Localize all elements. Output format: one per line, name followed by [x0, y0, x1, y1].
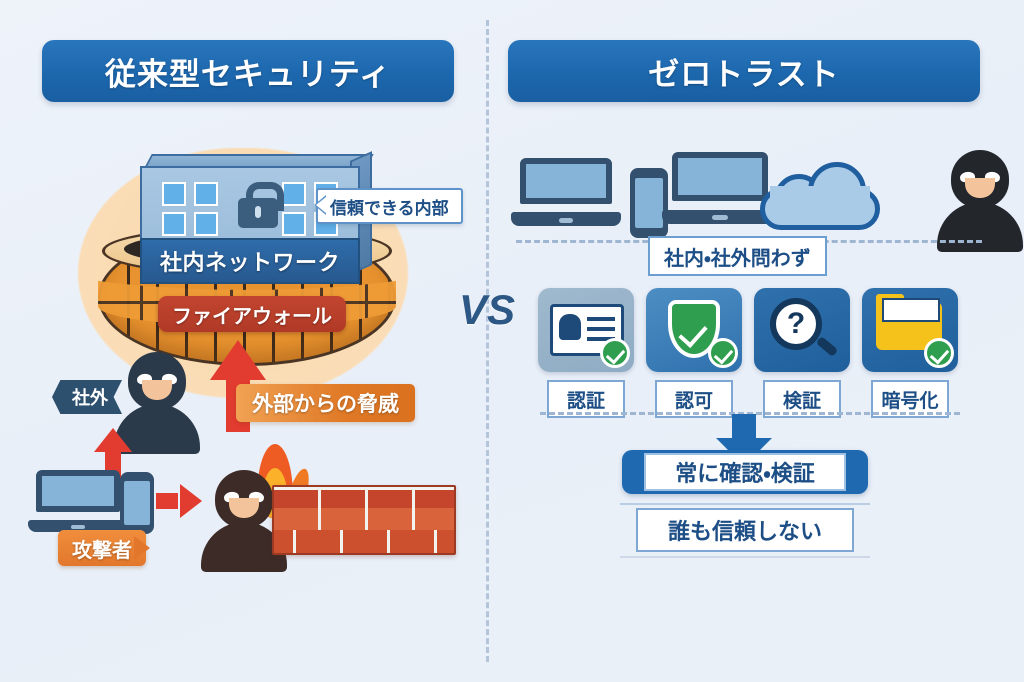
- smartphone-icon: [120, 472, 154, 534]
- never-trust-box: 誰も信頼しない: [636, 508, 854, 552]
- pillar-verification[interactable]: ? 検証: [754, 288, 850, 418]
- shield-check-icon: [646, 288, 742, 372]
- lock-keyhole: [255, 206, 261, 218]
- smartphone-screen: [635, 178, 664, 228]
- pillar-authentication[interactable]: 認証: [538, 288, 634, 418]
- check-badge-icon: [600, 338, 630, 368]
- laptop-screen: [36, 470, 120, 512]
- folder-check-icon: [862, 288, 958, 372]
- pillar-encryption[interactable]: 暗号化: [862, 288, 958, 418]
- pillar-authorization[interactable]: 認可: [646, 288, 742, 418]
- never-trust-label: 誰も信頼しない: [668, 514, 822, 546]
- arrow-head: [210, 340, 266, 380]
- magnifier-lens: ?: [770, 298, 822, 350]
- laptop-icon: [520, 158, 612, 226]
- lock-icon: [238, 182, 278, 228]
- tag-outside-network-label: 社外: [72, 384, 108, 410]
- laptop-touchpad: [71, 525, 84, 529]
- cloud-icon: [760, 162, 880, 230]
- laptop-touchpad: [559, 218, 574, 223]
- id-card-line: [587, 327, 615, 331]
- check-badge-icon: [924, 338, 954, 368]
- laptop-icon: [36, 470, 120, 532]
- building-icon: 社内ネットワーク: [140, 166, 358, 282]
- laptop-screen: [672, 152, 768, 201]
- laptop-icon: [672, 152, 768, 224]
- arrow-shaft: [732, 414, 756, 440]
- brick-wall-icon: [272, 485, 456, 555]
- brick-row: [274, 530, 454, 553]
- laptop-touchpad: [712, 215, 727, 220]
- firewall-badge: ファイアウォール: [158, 296, 346, 332]
- callout-trusted-inside: 信頼できる内部: [316, 188, 463, 224]
- header-banner-traditional: 従来型セキュリティ: [42, 40, 454, 102]
- building-window: [282, 212, 306, 236]
- folder-paper: [882, 298, 940, 322]
- id-card-icon: [538, 288, 634, 372]
- smartphone-screen: [124, 481, 150, 526]
- building-window: [282, 182, 306, 206]
- smartphone-frame: [630, 168, 668, 238]
- label-inside-outside-text: 社内・社外問わず: [664, 242, 811, 271]
- firewall-badge-label: ファイアウォール: [172, 300, 332, 329]
- divider-line: [620, 503, 870, 505]
- smartphone-icon: [630, 168, 668, 238]
- building-window: [162, 182, 186, 206]
- id-card-avatar: [559, 314, 581, 340]
- check-badge-icon: [708, 338, 738, 368]
- header-banner-zerotrust-label: ゼロトラスト: [648, 49, 839, 94]
- magnifier-handle: [816, 336, 839, 357]
- arrow-head: [94, 428, 132, 452]
- thief-icon: [940, 150, 1020, 250]
- laptop-screen: [520, 158, 612, 204]
- internal-network-label: 社内ネットワーク: [140, 238, 360, 284]
- divider-line: [620, 556, 870, 558]
- tag-attacker-label: 攻撃者: [72, 534, 132, 563]
- external-threat-banner: 外部からの脅威: [236, 384, 415, 422]
- external-threat-banner-label: 外部からの脅威: [252, 388, 399, 418]
- smartphone-frame: [120, 472, 154, 534]
- arrow-shaft: [156, 493, 178, 509]
- building-window: [194, 212, 218, 236]
- always-verify-bar: 常に確認・検証: [622, 450, 868, 494]
- brick-row: [274, 508, 454, 530]
- building-window: [194, 182, 218, 206]
- question-mark-glyph: ?: [787, 307, 805, 341]
- infographic-canvas: 従来型セキュリティ ゼロトラスト VS: [0, 0, 1024, 682]
- thief-body: [937, 202, 1023, 252]
- vertical-dashed-divider: [486, 20, 489, 662]
- vs-label: VS: [451, 286, 523, 334]
- magnifier-question-icon: ?: [754, 288, 850, 372]
- callout-trusted-inside-label: 信頼できる内部: [330, 194, 449, 219]
- label-inside-outside: 社内・社外問わず: [648, 236, 827, 276]
- building-window: [162, 212, 186, 236]
- id-card-line: [587, 317, 615, 321]
- tag-outside-network: 社外: [52, 380, 122, 414]
- always-verify-label: 常に確認・検証: [644, 453, 846, 491]
- tag-attacker: 攻撃者: [58, 530, 146, 566]
- cloud-fill: [770, 186, 870, 210]
- header-banner-zerotrust: ゼロトラスト: [508, 40, 980, 102]
- header-banner-traditional-label: 従来型セキュリティ: [105, 49, 391, 94]
